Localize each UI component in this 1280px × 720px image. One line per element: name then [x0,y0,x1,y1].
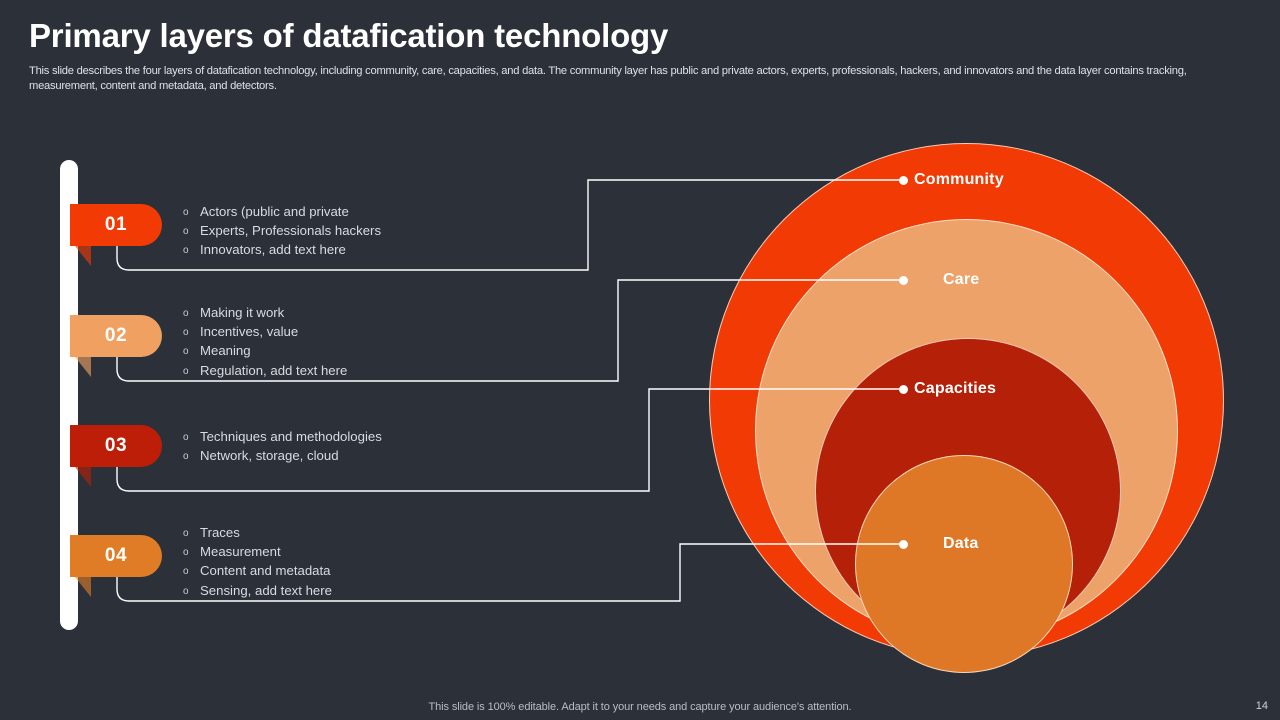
bullet-marker-icon: o [183,525,200,543]
step-bullets-02: oMaking it work oIncentives, value oMean… [183,304,347,381]
list-item: oExperts, Professionals hackers [183,222,381,241]
slide-canvas: Primary layers of datafication technolog… [0,0,1280,720]
list-item-label: Sensing, add text here [200,583,332,598]
step-badge-03[interactable]: 03 [70,425,162,467]
list-item-label: Experts, Professionals hackers [200,223,381,238]
list-item-label: Incentives, value [200,324,298,339]
list-item: oSensing, add text here [183,582,332,601]
list-item: oNetwork, storage, cloud [183,447,382,466]
layer-dot-care [899,276,908,285]
step-badge-02[interactable]: 02 [70,315,162,357]
footer-note: This slide is 100% editable. Adapt it to… [0,701,1280,713]
layer-label-capacities: Capacities [914,380,996,398]
list-item-label: Innovators, add text here [200,242,346,257]
list-item-label: Measurement [200,544,281,559]
list-item: oActors (public and private [183,203,381,222]
bullet-marker-icon: o [183,242,200,260]
page-subtitle: This slide describes the four layers of … [29,64,1247,94]
list-item: oTechniques and methodologies [183,428,382,447]
list-item-label: Regulation, add text here [200,363,347,378]
bullet-marker-icon: o [183,583,200,601]
step-badge-tail-04 [75,577,91,597]
list-item: oIncentives, value [183,323,347,342]
layer-dot-community [899,176,908,185]
list-item: oMaking it work [183,304,347,323]
step-number-03: 03 [105,435,127,457]
bullet-marker-icon: o [183,429,200,447]
list-item-label: Actors (public and private [200,204,349,219]
step-badge-04[interactable]: 04 [70,535,162,577]
step-bullets-01: oActors (public and private oExperts, Pr… [183,203,381,261]
layer-circle-data [855,455,1073,673]
step-badge-tail-02 [75,357,91,377]
bullet-marker-icon: o [183,305,200,323]
list-item: oRegulation, add text here [183,362,347,381]
bullet-marker-icon: o [183,363,200,381]
step-badge-tail-01 [75,246,91,266]
bullet-marker-icon: o [183,204,200,222]
list-item-label: Techniques and methodologies [200,429,382,444]
bullet-marker-icon: o [183,343,200,361]
step-bullets-03: oTechniques and methodologies oNetwork, … [183,428,382,466]
step-number-04: 04 [105,545,127,567]
step-badge-tail-03 [75,467,91,487]
list-item: oContent and metadata [183,562,332,581]
list-item-label: Traces [200,525,240,540]
step-number-02: 02 [105,325,127,347]
layer-dot-capacities [899,385,908,394]
step-number-01: 01 [105,214,127,236]
list-item: oMeaning [183,342,347,361]
bullet-marker-icon: o [183,223,200,241]
page-number: 14 [1256,700,1268,712]
layer-label-data: Data [943,535,978,553]
bullet-marker-icon: o [183,324,200,342]
list-item-label: Network, storage, cloud [200,448,339,463]
bullet-marker-icon: o [183,544,200,562]
list-item-label: Making it work [200,305,284,320]
list-item-label: Content and metadata [200,563,331,578]
layer-label-care: Care [943,271,979,289]
bullet-marker-icon: o [183,448,200,466]
list-item: oMeasurement [183,543,332,562]
list-item: oTraces [183,524,332,543]
layer-dot-data [899,540,908,549]
step-badge-01[interactable]: 01 [70,204,162,246]
layer-label-community: Community [914,171,1004,189]
step-bullets-04: oTraces oMeasurement oContent and metada… [183,524,332,601]
page-title: Primary layers of datafication technolog… [29,17,668,55]
bullet-marker-icon: o [183,563,200,581]
list-item: oInnovators, add text here [183,241,381,260]
list-item-label: Meaning [200,343,251,358]
